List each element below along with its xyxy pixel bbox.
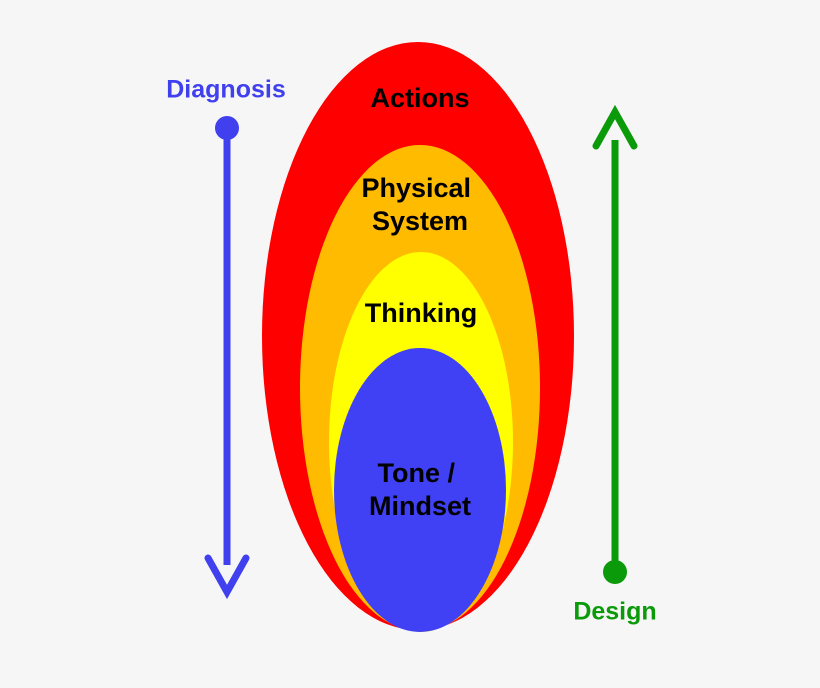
- ellipse-label-tone-mindset-line1: Tone /: [377, 458, 455, 488]
- diagram-canvas: Actions Physical System Thinking Tone / …: [0, 0, 820, 688]
- ellipse-label-thinking: Thinking: [365, 298, 477, 328]
- ellipse-tone-mindset[interactable]: [334, 348, 506, 632]
- ellipse-label-physical-system-line2: System: [372, 206, 468, 236]
- ellipse-group: [262, 42, 574, 632]
- nested-ellipse-diagram: Actions Physical System Thinking Tone / …: [0, 0, 820, 688]
- ellipse-label-tone-mindset-line2: Mindset: [369, 491, 471, 521]
- diagnosis-label: Diagnosis: [166, 76, 285, 104]
- ellipse-label-actions: Actions: [370, 83, 469, 113]
- ellipse-label-physical-system-line1: Physical: [361, 173, 471, 203]
- design-label: Design: [573, 598, 656, 626]
